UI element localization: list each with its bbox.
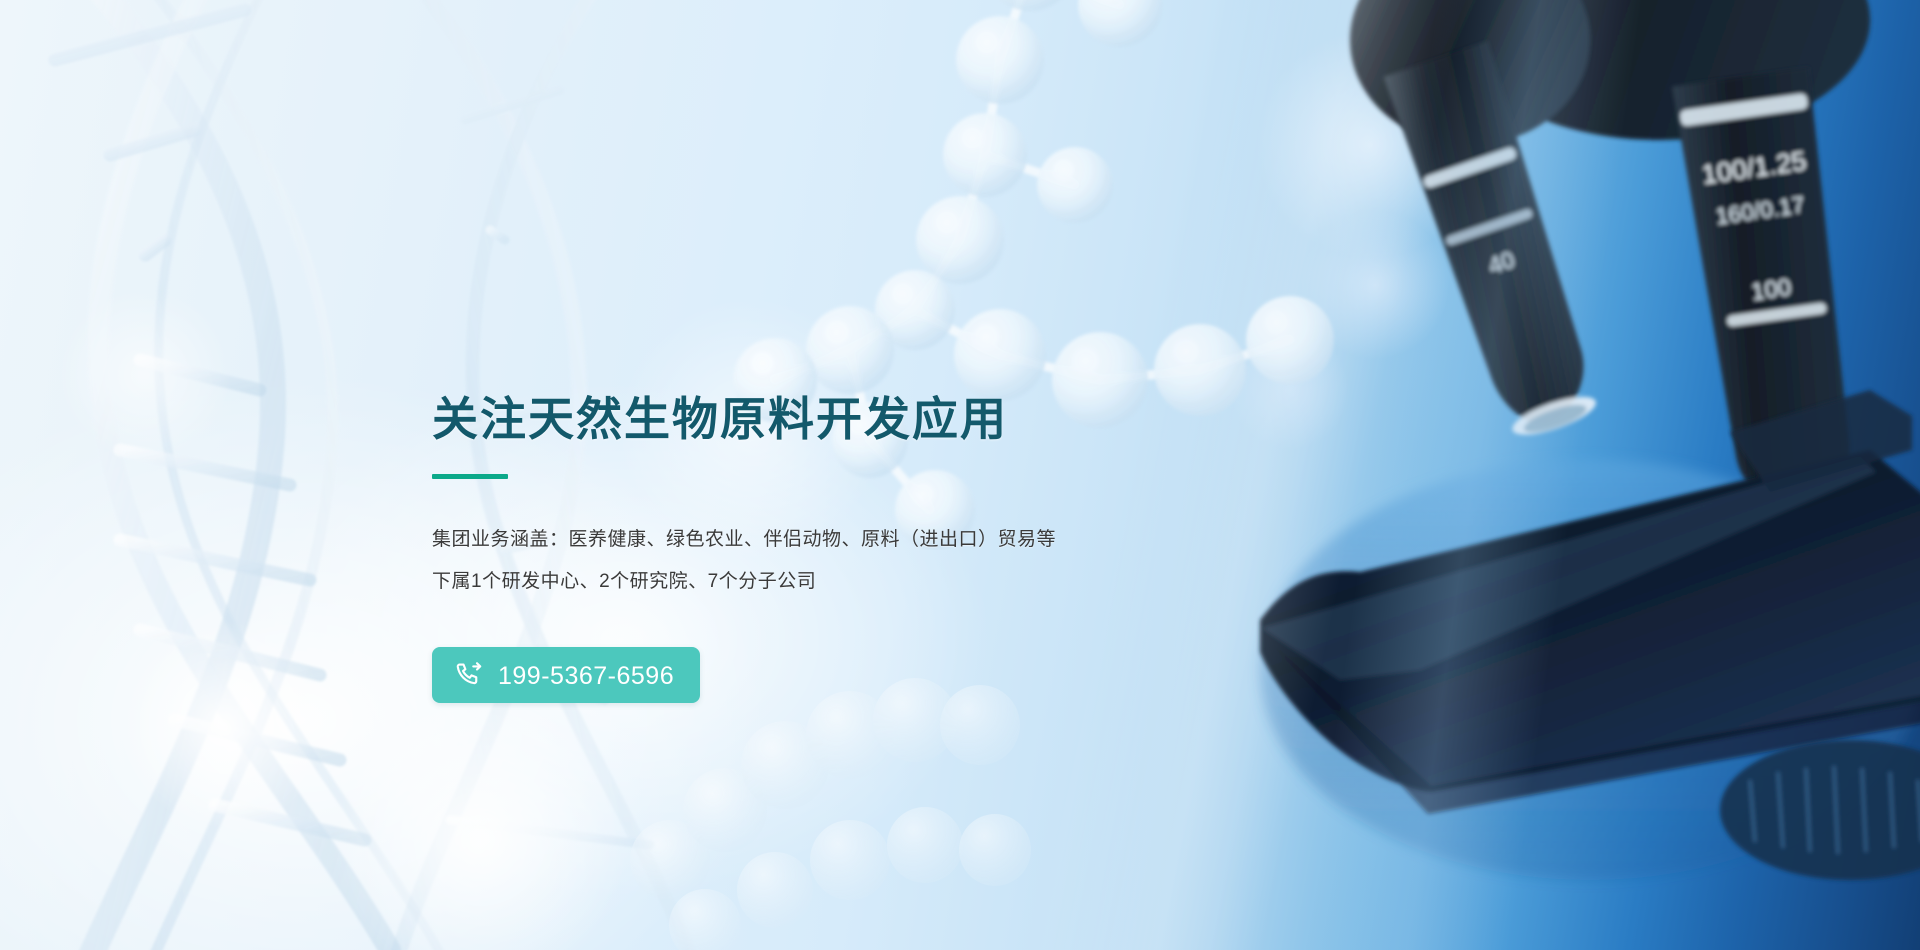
phone-forward-icon bbox=[454, 660, 484, 690]
bokeh-highlight bbox=[1300, 210, 1450, 360]
svg-text:100/1.25: 100/1.25 bbox=[1700, 146, 1808, 190]
bokeh-highlight bbox=[1255, 30, 1485, 260]
subcopy-line-1: 集团业务涵盖：医养健康、绿色农业、伴侣动物、原料（进出口）贸易等 bbox=[432, 519, 1252, 561]
hero-content: 关注天然生物原料开发应用 集团业务涵盖：医养健康、绿色农业、伴侣动物、原料（进出… bbox=[432, 392, 1252, 703]
bokeh-highlight bbox=[120, 620, 330, 830]
bokeh-highlight bbox=[60, 290, 230, 460]
svg-text:40: 40 bbox=[1485, 246, 1518, 279]
title-divider bbox=[432, 474, 508, 479]
hero-banner: 40 100/1.25 160/0.17 100 bbox=[0, 0, 1920, 950]
svg-text:160/0.17: 160/0.17 bbox=[1714, 191, 1806, 229]
phone-cta-button[interactable]: 199-5367-6596 bbox=[432, 647, 700, 703]
subcopy-line-2: 下属1个研发中心、2个研究院、7个分子公司 bbox=[432, 561, 1252, 603]
bokeh-highlight bbox=[330, 690, 630, 950]
hero-subcopy: 集团业务涵盖：医养健康、绿色农业、伴侣动物、原料（进出口）贸易等 下属1个研发中… bbox=[432, 519, 1252, 603]
svg-text:100: 100 bbox=[1750, 274, 1793, 306]
page-title: 关注天然生物原料开发应用 bbox=[432, 392, 1252, 446]
microscope-graphic: 40 100/1.25 160/0.17 100 bbox=[1170, 0, 1920, 950]
phone-number-label: 199-5367-6596 bbox=[498, 664, 674, 689]
